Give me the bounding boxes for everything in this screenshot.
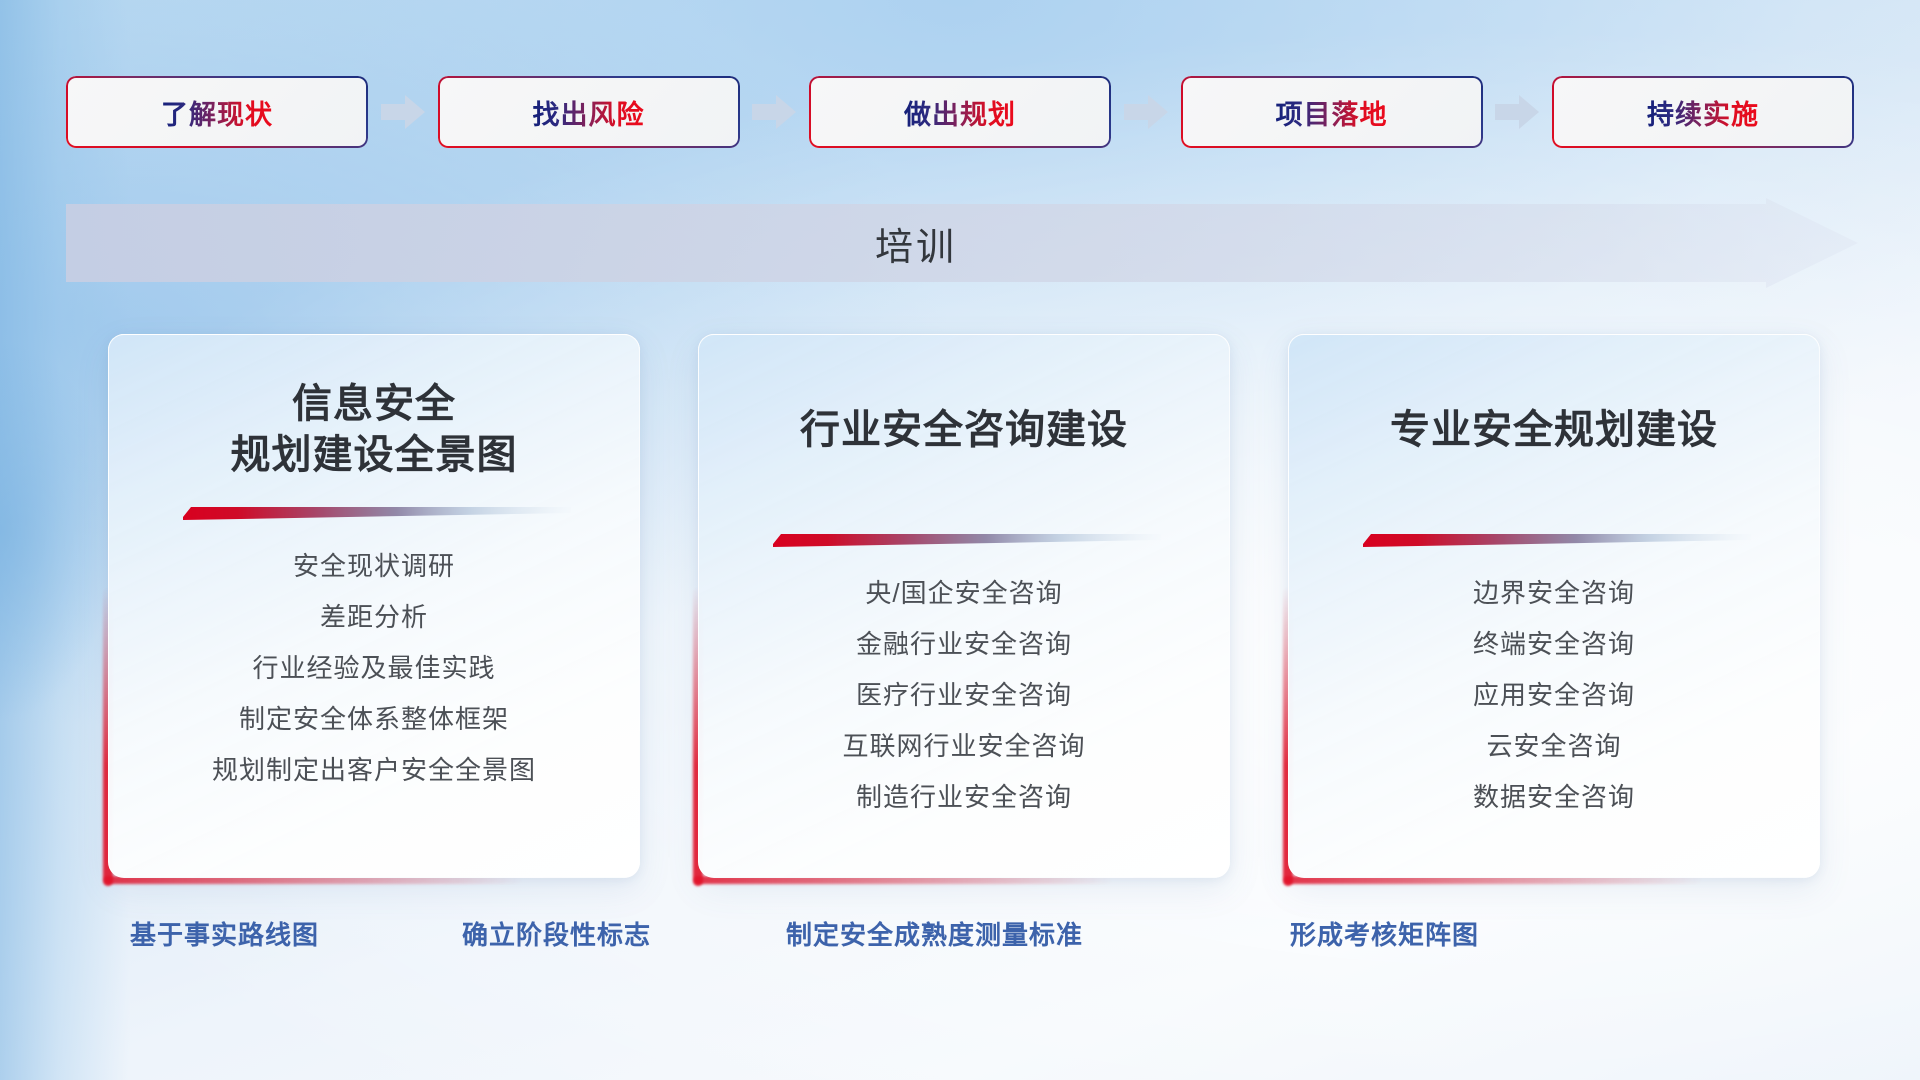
footnote-label-4: 形成考核矩阵图 — [1290, 910, 1479, 960]
card-surface: 行业安全咨询建设 — [698, 334, 1230, 878]
step-label: 找出风险 — [533, 93, 645, 132]
card-3[interactable]: 专业安全规划建设 — [1288, 334, 1820, 878]
banner-title: 培训 — [66, 198, 1766, 288]
step-label: 项目落地 — [1276, 93, 1388, 132]
step-box-3[interactable]: 做出规划 — [809, 76, 1111, 148]
step-box-5[interactable]: 持续实施 — [1552, 76, 1854, 148]
card-1[interactable]: 信息安全 规划建设全景图 — [108, 334, 640, 878]
training-banner: 培训 — [66, 198, 1858, 288]
list-item: 边界安全咨询 — [1473, 568, 1635, 619]
list-item: 数据安全咨询 — [1473, 772, 1635, 823]
list-item: 制定安全体系整体框架 — [239, 694, 509, 745]
step-label: 了解现状 — [161, 93, 273, 132]
gradient-divider-icon — [767, 530, 1161, 552]
gradient-divider-icon — [177, 503, 571, 525]
card-title: 专业安全规划建设 — [1390, 405, 1718, 456]
footnote-row: 基于事实路线图 确立阶段性标志 制定安全成熟度测量标准 形成考核矩阵图 — [0, 910, 1920, 960]
card-title: 行业安全咨询建设 — [800, 405, 1128, 456]
footnote-label-1: 基于事实路线图 — [130, 910, 319, 960]
list-item: 差距分析 — [320, 592, 428, 643]
arrow-right-icon — [1495, 93, 1539, 131]
step-box-1[interactable]: 了解现状 — [66, 76, 368, 148]
arrow-right-icon — [1124, 93, 1168, 131]
process-step-row: 了解现状 找出风险 做出规划 项目落地 — [66, 76, 1854, 148]
card-surface: 信息安全 规划建设全景图 — [108, 334, 640, 878]
list-item: 互联网行业安全咨询 — [842, 721, 1085, 772]
list-item: 央/国企安全咨询 — [865, 568, 1062, 619]
list-item: 医疗行业安全咨询 — [856, 670, 1072, 721]
list-item: 规划制定出客户安全全景图 — [212, 745, 536, 796]
list-item: 终端安全咨询 — [1473, 619, 1635, 670]
card-item-list: 央/国企安全咨询 金融行业安全咨询 医疗行业安全咨询 互联网行业安全咨询 制造行… — [699, 568, 1229, 823]
card-surface: 专业安全规划建设 — [1288, 334, 1820, 878]
list-item: 金融行业安全咨询 — [856, 619, 1072, 670]
list-item: 行业经验及最佳实践 — [252, 643, 495, 694]
list-item: 应用安全咨询 — [1473, 670, 1635, 721]
list-item: 安全现状调研 — [293, 541, 455, 592]
footnote-label-2: 确立阶段性标志 — [462, 910, 651, 960]
slide-canvas: 了解现状 找出风险 做出规划 项目落地 — [0, 0, 1920, 1080]
card-title: 信息安全 规划建设全景图 — [231, 379, 518, 481]
list-item: 制造行业安全咨询 — [856, 772, 1072, 823]
card-item-list: 安全现状调研 差距分析 行业经验及最佳实践 制定安全体系整体框架 规划制定出客户… — [109, 541, 639, 796]
list-item: 云安全咨询 — [1486, 721, 1621, 772]
gradient-divider-icon — [1357, 530, 1751, 552]
arrow-right-icon — [752, 93, 796, 131]
step-box-4[interactable]: 项目落地 — [1181, 76, 1483, 148]
card-2[interactable]: 行业安全咨询建设 — [698, 334, 1230, 878]
step-box-2[interactable]: 找出风险 — [438, 76, 740, 148]
step-label: 持续实施 — [1647, 93, 1759, 132]
step-label: 做出规划 — [904, 93, 1016, 132]
card-row: 信息安全 规划建设全景图 — [108, 334, 1820, 878]
card-item-list: 边界安全咨询 终端安全咨询 应用安全咨询 云安全咨询 数据安全咨询 — [1289, 568, 1819, 823]
footnote-label-3: 制定安全成熟度测量标准 — [786, 910, 1083, 960]
arrow-right-icon — [381, 93, 425, 131]
